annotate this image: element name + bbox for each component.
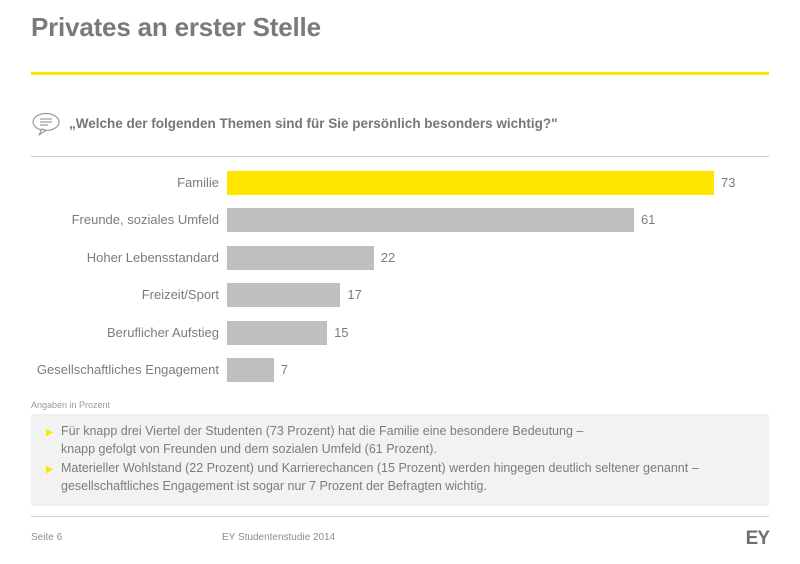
units-note: Angaben in Prozent <box>31 399 110 411</box>
bar-category-label: Hoher Lebensstandard <box>31 250 227 266</box>
bar-fill <box>227 321 327 345</box>
slide: Privates an erster Stelle „Welche der fo… <box>0 0 800 564</box>
question-text: „Welche der folgenden Themen sind für Si… <box>69 115 557 133</box>
footer-page-number: Seite 6 <box>31 531 62 545</box>
bar-category-label: Familie <box>31 175 227 191</box>
bar-row: Hoher Lebensstandard22 <box>31 239 769 277</box>
bar-value-label: 73 <box>721 175 735 191</box>
chart-top-rule <box>31 156 769 157</box>
bar-category-label: Gesellschaftliches Engagement <box>31 362 227 378</box>
question-row: „Welche der folgenden Themen sind für Si… <box>31 110 771 138</box>
bar-fill <box>227 358 274 382</box>
bar-value-label: 61 <box>641 212 655 228</box>
bar-track: 73 <box>227 171 769 195</box>
footer-source-label: EY Studentenstudie 2014 <box>222 531 335 545</box>
arrow-bullet-icon <box>45 423 61 437</box>
bar-category-label: Beruflicher Aufstieg <box>31 325 227 341</box>
footer-rule <box>31 516 769 517</box>
bar-row: Freunde, soziales Umfeld61 <box>31 202 769 240</box>
insight-line: gesellschaftliches Engagement ist sogar … <box>61 478 699 496</box>
bar-row: Familie73 <box>31 164 769 202</box>
title-underline-rule <box>31 72 769 75</box>
footer: Seite 6 EY Studentenstudie 2014 EY <box>31 528 769 552</box>
bar-category-label: Freizeit/Sport <box>31 287 227 303</box>
insight-item: Für knapp drei Viertel der Studenten (73… <box>45 423 749 458</box>
insight-item: Materieller Wohlstand (22 Prozent) und K… <box>45 460 749 495</box>
bar-track: 17 <box>227 283 769 307</box>
insight-text: Materieller Wohlstand (22 Prozent) und K… <box>61 460 699 495</box>
arrow-bullet-icon <box>45 460 61 474</box>
bar-fill <box>227 246 374 270</box>
insight-line: knapp gefolgt von Freunden und dem sozia… <box>61 441 583 459</box>
insight-text: Für knapp drei Viertel der Studenten (73… <box>61 423 583 458</box>
ey-logo: EY <box>746 528 769 550</box>
bar-value-label: 22 <box>381 250 395 266</box>
bar-value-label: 17 <box>347 287 361 303</box>
bar-value-label: 15 <box>334 325 348 341</box>
bar-value-label: 7 <box>281 362 288 378</box>
bar-track: 22 <box>227 246 769 270</box>
bar-row: Gesellschaftliches Engagement7 <box>31 352 769 390</box>
speech-bubble-icon <box>31 111 61 137</box>
bar-category-label: Freunde, soziales Umfeld <box>31 212 227 228</box>
bar-fill <box>227 208 634 232</box>
bar-fill <box>227 283 340 307</box>
insights-box: Für knapp drei Viertel der Studenten (73… <box>31 414 769 506</box>
bar-chart: Familie73Freunde, soziales Umfeld61Hoher… <box>31 164 769 390</box>
bar-track: 7 <box>227 358 769 382</box>
bar-row: Freizeit/Sport17 <box>31 277 769 315</box>
page-title: Privates an erster Stelle <box>31 10 321 44</box>
insight-line: Materieller Wohlstand (22 Prozent) und K… <box>61 460 699 478</box>
bar-row: Beruflicher Aufstieg15 <box>31 314 769 352</box>
bar-track: 15 <box>227 321 769 345</box>
bar-fill <box>227 171 714 195</box>
insight-line: Für knapp drei Viertel der Studenten (73… <box>61 423 583 441</box>
bar-track: 61 <box>227 208 769 232</box>
